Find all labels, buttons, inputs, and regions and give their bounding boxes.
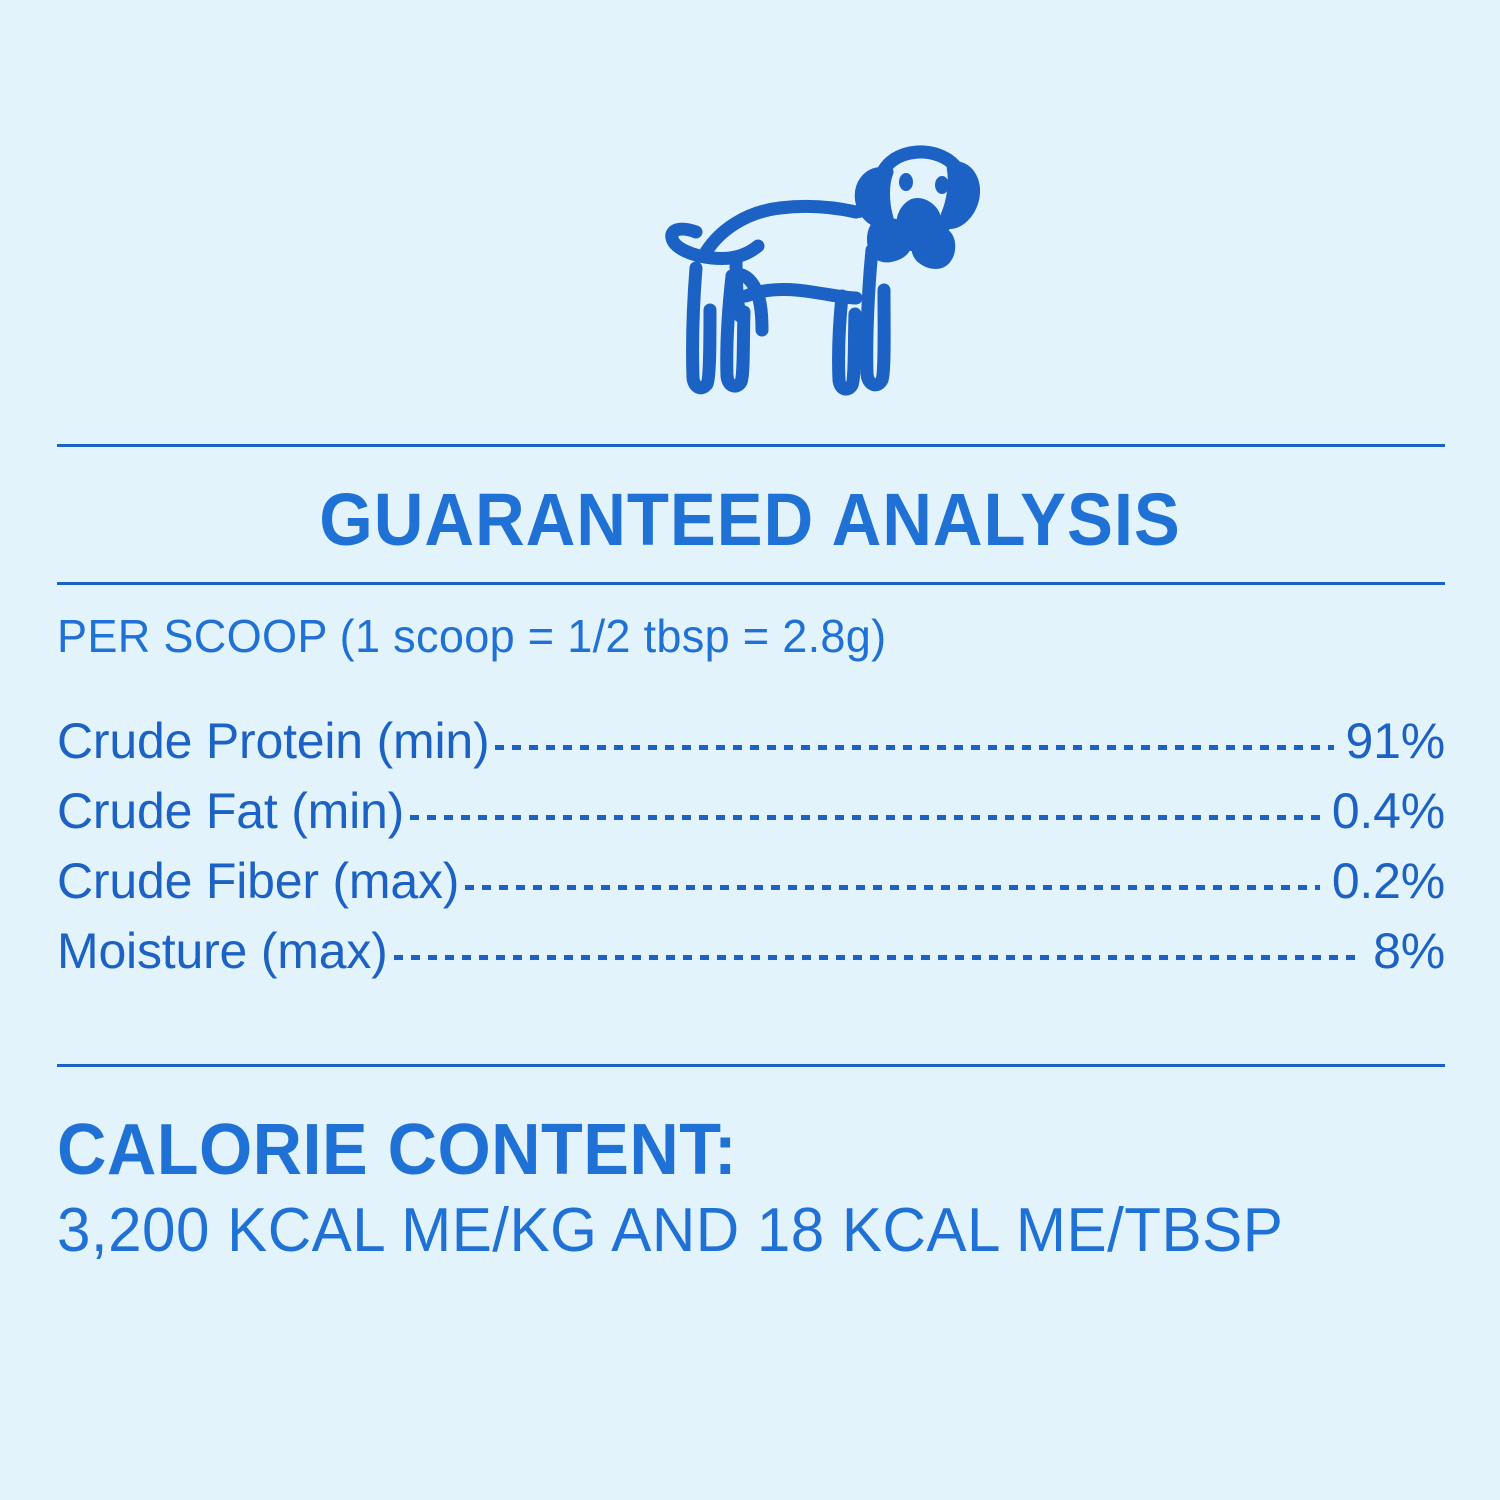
table-row: Crude Protein (min) 91% (57, 706, 1445, 776)
guaranteed-analysis-table: Crude Protein (min) 91% Crude Fat (min) … (57, 706, 1445, 986)
table-row: Crude Fiber (max) 0.2% (57, 846, 1445, 916)
nutrient-value: 0.4% (1332, 776, 1445, 846)
calorie-content-block: CALORIE CONTENT: 3,200 KCAL ME/KG AND 18… (57, 1108, 1445, 1270)
guaranteed-analysis-panel: GUARANTEED ANALYSIS PER SCOOP (1 scoop =… (0, 0, 1500, 1500)
nutrient-name: Crude Fiber (max) (57, 846, 459, 916)
dot-leader (394, 940, 1362, 960)
dot-leader (410, 800, 1320, 820)
nutrient-value: 91% (1346, 706, 1445, 776)
page-title: GUARANTEED ANALYSIS (53, 478, 1448, 562)
nutrient-name: Crude Fat (min) (57, 776, 404, 846)
serving-statement: PER SCOOP (1 scoop = 1/2 tbsp = 2.8g) (57, 608, 886, 664)
nutrient-name: Crude Protein (min) (57, 706, 489, 776)
divider-above-calories (57, 1064, 1445, 1067)
table-row: Moisture (max) 8% (57, 916, 1445, 986)
nutrient-value: 8% (1373, 916, 1445, 986)
nutrient-name: Moisture (max) (57, 916, 388, 986)
divider-top (57, 444, 1445, 447)
dot-leader (495, 730, 1333, 750)
divider-under-title (57, 582, 1445, 585)
dog-with-bowtie-icon (560, 130, 980, 420)
table-row: Crude Fat (min) 0.4% (57, 776, 1445, 846)
calorie-content-value: 3,200 KCAL ME/KG AND 18 KCAL ME/TBSP (57, 1192, 1403, 1270)
dot-leader (465, 870, 1320, 890)
calorie-content-heading: CALORIE CONTENT: (57, 1108, 1376, 1192)
nutrient-value: 0.2% (1332, 846, 1445, 916)
